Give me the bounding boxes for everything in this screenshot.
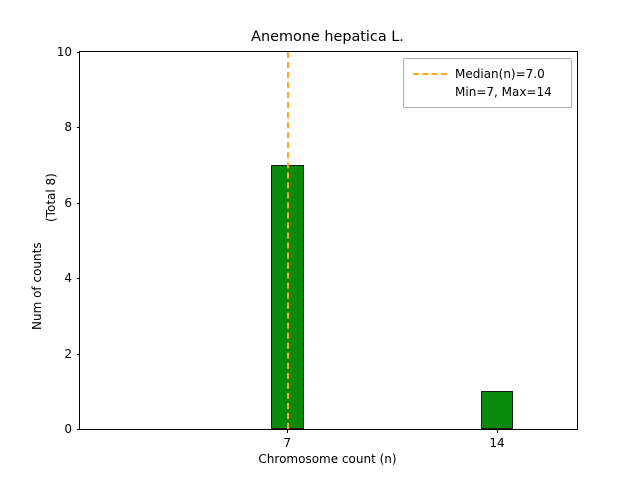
ytick-mark: [77, 354, 81, 355]
xtick-label: 7: [283, 436, 291, 450]
dashed-line-icon: [412, 65, 448, 83]
ytick-mark: [77, 127, 81, 128]
legend-label: Min=7, Max=14: [455, 85, 552, 99]
y-axis-label-secondary: (Total 8): [44, 173, 58, 222]
xtick-mark: [497, 429, 498, 433]
xtick-label: 14: [489, 436, 504, 450]
y-axis-label: Num of counts: [30, 242, 44, 330]
bar-n14[interactable]: [481, 391, 514, 429]
legend-item-median: Median(n)=7.0: [412, 65, 563, 83]
xtick-mark: [287, 429, 288, 433]
plot-inner: 0 2 4 6 8 10: [80, 52, 577, 429]
x-axis-label: Chromosome count (n): [79, 452, 576, 466]
ytick-mark: [77, 429, 81, 430]
ytick-label: 0: [64, 422, 72, 436]
ytick-label: 4: [64, 271, 72, 285]
ytick-mark: [77, 203, 81, 204]
ytick-label: 6: [64, 196, 72, 210]
legend: Median(n)=7.0 Min=7, Max=14: [403, 58, 572, 108]
ytick-mark: [77, 52, 81, 53]
ytick-mark: [77, 278, 81, 279]
figure-canvas: Anemone hepatica L. 0 2 4 6 8: [0, 0, 640, 480]
legend-label: Median(n)=7.0: [455, 67, 545, 81]
legend-item-minmax: Min=7, Max=14: [412, 83, 563, 101]
legend-spacer: [412, 83, 448, 101]
chart-title: Anemone hepatica L.: [79, 29, 576, 45]
median-line: [287, 52, 289, 429]
ytick-label: 2: [64, 347, 72, 361]
ytick-label: 8: [64, 120, 72, 134]
ytick-label: 10: [57, 45, 72, 59]
